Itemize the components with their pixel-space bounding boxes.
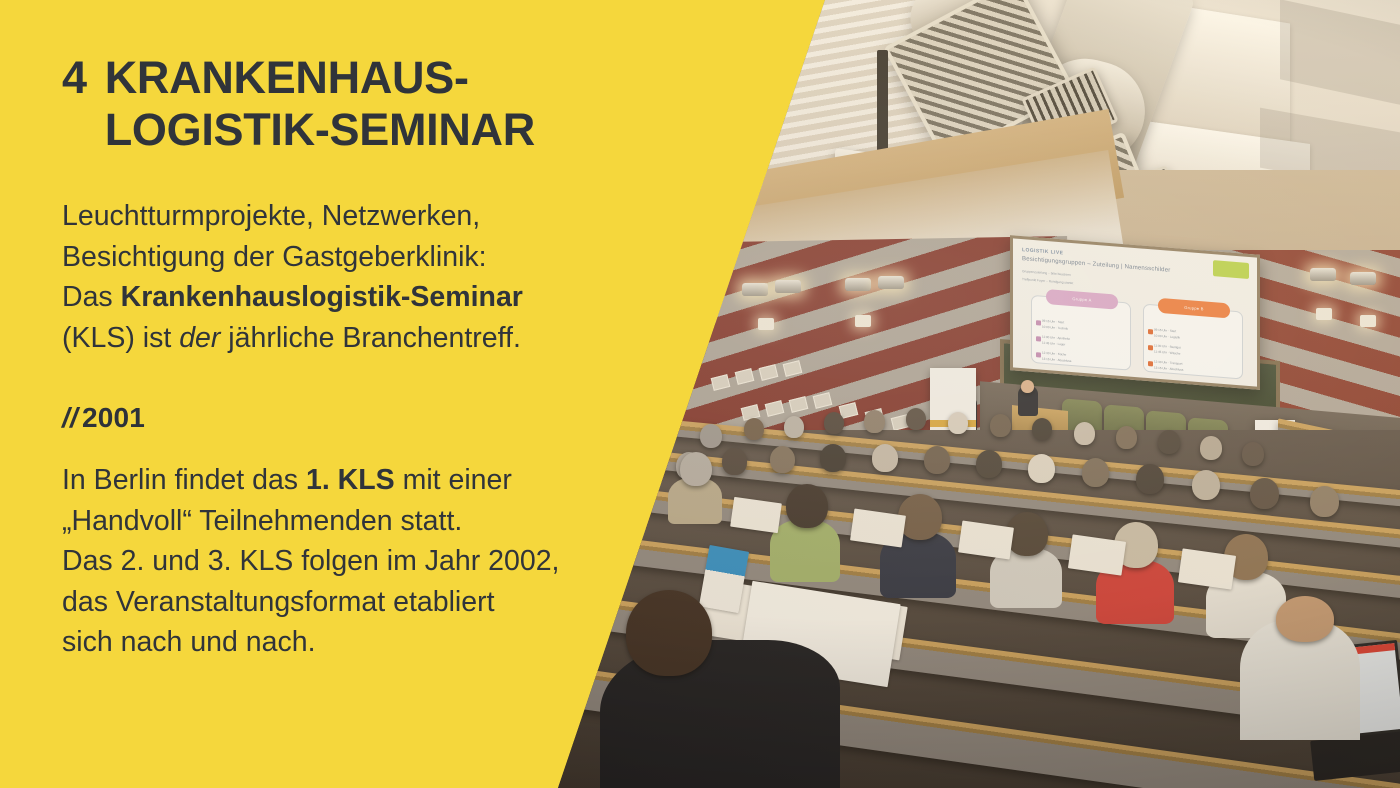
handout [1068,534,1126,575]
audience-head [1250,478,1279,509]
body-line-5: sich nach und nach. [62,626,316,658]
body-line-2: „Handvoll“ Teilnehmenden statt. [62,505,462,537]
audience-head [1158,430,1180,454]
slide-logo [1213,260,1249,279]
year-value: 2001 [82,402,145,433]
slide-fine-line: Gruppenzuteilung – bitte beachten [1022,269,1071,277]
wall-sconce [855,315,871,327]
slide-item: 12:30 Uhr · Transport [1154,359,1183,365]
slide-bullet [1036,352,1041,357]
slide-bullet [1148,361,1153,366]
audience-head [784,416,804,438]
lead-paragraph: Leuchtturmprojekte, Netzwerken, Besichti… [62,196,582,358]
wall-sconce [1316,308,1332,320]
body-line-1-suffix: mit einer [395,464,512,496]
first-kls-bold: 1. KLS [306,464,395,496]
emphasis-der: der [179,322,220,354]
wall-light [742,283,768,296]
body-paragraph: In Berlin findet das 1. KLS mit einer „H… [62,460,582,662]
wall-light [878,276,904,289]
slide-group-box-a: Gruppe A 09:15 Uhr · Start 10:00 Uhr · T… [1031,295,1131,371]
handout [1178,548,1236,589]
audience-head [1082,458,1109,487]
year-heading: //2001 [62,402,640,434]
slide-fine-line: Treffpunkt Foyer – Rundgang startet [1022,277,1073,285]
title-line-2: LOGISTIK-SEMINAR [105,104,535,155]
lead-line-2: Besichtigung der Gastgeberklinik: [62,241,487,273]
slide-item: 11:45 Uhr · Lager [1042,341,1065,347]
audience-head [786,484,828,528]
audience-head [1028,454,1055,483]
handout [730,497,782,533]
text-panel: 4 KRANKENHAUS- LOGISTIK-SEMINAR Leuchttu… [0,0,640,788]
seminar-name-bold: Krankenhauslogistik-Seminar [121,281,523,313]
audience-head [700,424,722,448]
speaker-head [1021,380,1034,393]
slide-item: 09:15 Uhr · Start [1154,327,1176,333]
foreground-attendee-head [1276,596,1334,642]
wall-light [1310,268,1336,281]
audience-head [1136,464,1164,494]
slide-item: 10:00 Uhr · Technik [1042,325,1068,331]
audience-head [990,414,1011,437]
slide-group-box-b: Gruppe B 09:15 Uhr · Start 10:00 Uhr · L… [1143,304,1243,380]
body-line-1-prefix: In Berlin findet das [62,464,306,496]
lead-line-1: Leuchtturmprojekte, Netzwerken, [62,200,480,232]
audience-head [1200,436,1222,460]
wall-sconce [758,318,774,330]
audience-head [1032,418,1052,440]
audience-head [924,446,950,474]
slide-root: LOGISTIK LIVE Besichtigungsgruppen – Zut… [0,0,1400,788]
slide-item: 13:15 Uhr · Abschluss [1154,365,1183,371]
wall-light [1350,272,1376,285]
audience-head [1074,422,1095,445]
slide-item: 11:00 Uhr · Sterilgut [1154,343,1181,349]
wall-sconce [1360,315,1376,327]
slide-bullet [1036,336,1041,341]
page-title: 4 KRANKENHAUS- LOGISTIK-SEMINAR [62,52,602,156]
section-title: KRANKENHAUS- LOGISTIK-SEMINAR [105,52,602,156]
slide-item: 09:15 Uhr · Start [1042,319,1064,325]
audience-head [824,412,844,434]
slide-title: LOGISTIK LIVE [1022,247,1063,256]
slide-item: 10:00 Uhr · Logistik [1154,333,1180,339]
slide-item: 12:30 Uhr · Küche [1042,351,1066,357]
projection-screen: LOGISTIK LIVE Besichtigungsgruppen – Zut… [1010,235,1260,390]
body-line-3: Das 2. und 3. KLS folgen im Jahr 2002, [62,545,559,577]
audience-head [872,444,898,472]
slide-bullet [1148,345,1153,350]
lead-line-4-prefix: (KLS) ist [62,322,179,354]
slide-item: 11:00 Uhr · Apotheke [1042,335,1070,341]
audience-head [680,452,712,486]
audience-head [820,444,846,472]
title-line-1: KRANKENHAUS- [105,52,469,103]
projector-mount-pole [877,50,888,160]
body-line-4: das Veranstaltungsformat etabliert [62,586,495,618]
audience-head [948,412,968,434]
audience-head [976,450,1002,478]
slide-item: 11:45 Uhr · Wäsche [1154,349,1180,355]
audience-head [864,410,885,433]
audience-body [770,520,840,582]
wall-light [845,278,871,291]
audience-head [770,446,795,473]
audience-head [1310,486,1339,517]
slide-bullet [1148,329,1153,334]
slide-group-label-b: Gruppe B [1158,298,1230,319]
audience-head [1242,442,1264,466]
slide-group-label-a: Gruppe A [1046,289,1118,310]
audience-head [1192,470,1220,500]
audience-head [1116,426,1137,449]
audience-head [744,418,764,440]
lead-line-3-prefix: Das [62,281,121,313]
lead-line-4-suffix: jährliche Branchentreff. [220,322,520,354]
wall-light [775,280,801,293]
audience-head [722,448,747,475]
slide-item: 13:15 Uhr · Abschluss [1042,357,1071,363]
year-marker: // [62,402,78,433]
audience-head [906,408,926,430]
slide-bullet [1036,320,1041,325]
section-number: 4 [62,52,87,156]
